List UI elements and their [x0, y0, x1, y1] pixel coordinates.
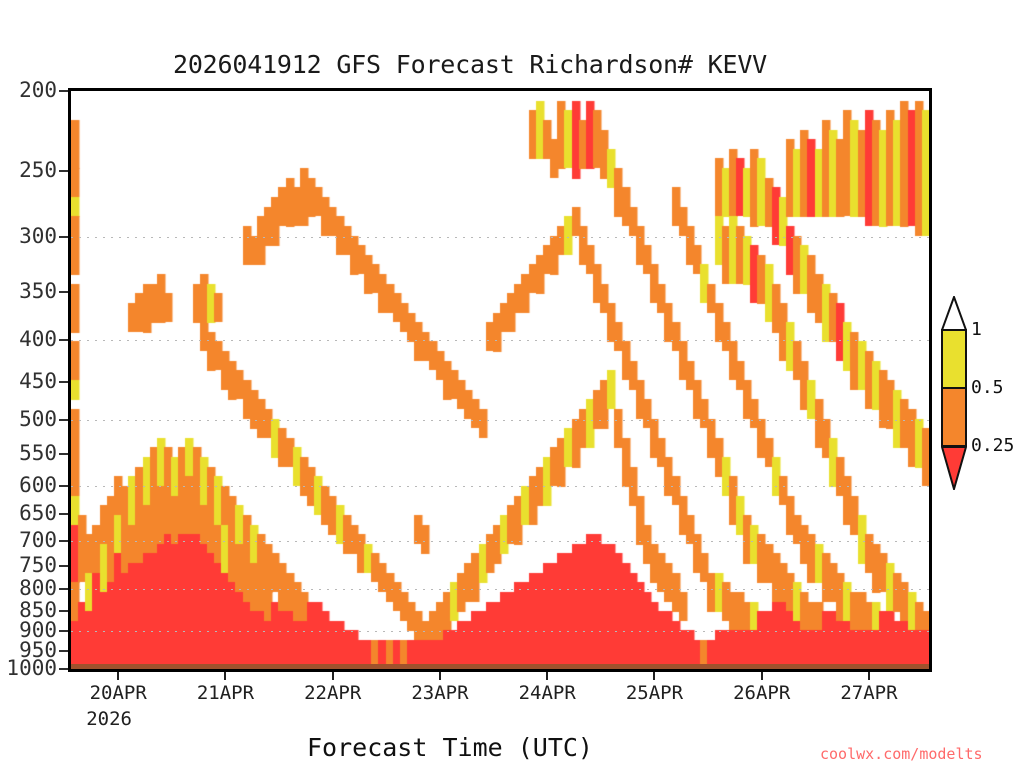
- x-axis-tick-label: 26APR: [720, 684, 804, 703]
- y-axis-tick-mark: [59, 668, 68, 670]
- y-axis-tick-mark: [59, 453, 68, 455]
- colorbar-tick-label: 0.5: [971, 379, 1004, 397]
- y-axis-tick-mark: [59, 565, 68, 567]
- page-title: 2026041912 GFS Forecast Richardson# KEVV: [0, 50, 940, 79]
- y-axis-tick-label: 450: [19, 371, 57, 392]
- x-axis-tick-mark: [117, 672, 119, 680]
- y-axis-tick-label: 650: [19, 503, 57, 524]
- colorbar-below-min-arrow: [941, 446, 967, 490]
- y-axis-tick-mark: [59, 588, 68, 590]
- y-axis-tick-label: 350: [19, 281, 57, 302]
- x-axis-tick-label: 23APR: [398, 684, 482, 703]
- plot-area: [68, 88, 932, 672]
- x-axis-tick-mark: [546, 672, 548, 680]
- colorbar-segment: [941, 330, 967, 388]
- y-axis-tick-label: 550: [19, 443, 57, 464]
- colorbar-tick-label: 1: [971, 321, 982, 339]
- y-axis-tick-mark: [59, 419, 68, 421]
- y-axis-tick-label: 500: [19, 409, 57, 430]
- chart-figure: 2026041912 GFS Forecast Richardson# KEVV…: [0, 0, 1024, 768]
- colorbar-legend: 10.50.25: [941, 296, 967, 458]
- x-axis-tick-mark: [224, 672, 226, 680]
- y-axis-tick-label: 1000: [6, 658, 57, 679]
- y-axis-tick-mark: [59, 339, 68, 341]
- x-axis-tick-label: 25APR: [612, 684, 696, 703]
- credit-watermark: coolwx.com/modelts: [820, 745, 983, 763]
- terrain-band: [71, 664, 929, 669]
- colorbar-above-max-arrow: [941, 296, 967, 330]
- y-axis-tick-mark: [59, 170, 68, 172]
- y-axis-tick-mark: [59, 630, 68, 632]
- y-axis-tick-label: 200: [19, 80, 57, 101]
- y-axis-tick-label: 700: [19, 530, 57, 551]
- colorbar-segment: [941, 388, 967, 446]
- y-axis-tick-mark: [59, 650, 68, 652]
- y-axis-tick-label: 600: [19, 475, 57, 496]
- axis-year-label: 2026: [86, 710, 132, 729]
- x-axis-tick-label: 20APR: [76, 684, 160, 703]
- heatmap-canvas: [71, 91, 929, 669]
- y-axis-tick-mark: [59, 90, 68, 92]
- y-axis-tick-mark: [59, 513, 68, 515]
- y-axis-tick-mark: [59, 381, 68, 383]
- colorbar-rule: [941, 329, 967, 331]
- x-axis-tick-label: 22APR: [291, 684, 375, 703]
- x-axis-tick-mark: [653, 672, 655, 680]
- y-axis-tick-mark: [59, 291, 68, 293]
- x-axis-tick-mark: [332, 672, 334, 680]
- y-axis-tick-label: 800: [19, 578, 57, 599]
- y-axis-tick-label: 400: [19, 329, 57, 350]
- x-axis-tick-mark: [868, 672, 870, 680]
- y-axis-tick-mark: [59, 610, 68, 612]
- x-axis-tick-mark: [439, 672, 441, 680]
- x-axis-tick-mark: [761, 672, 763, 680]
- x-axis-tick-label: 21APR: [183, 684, 267, 703]
- y-axis-tick-label: 750: [19, 555, 57, 576]
- y-axis-tick-label: 300: [19, 226, 57, 247]
- x-axis-tick-label: 27APR: [827, 684, 911, 703]
- y-axis-tick-mark: [59, 485, 68, 487]
- x-axis-title: Forecast Time (UTC): [230, 733, 670, 762]
- colorbar-tick-label: 0.25: [971, 437, 1014, 455]
- y-axis-tick-mark: [59, 236, 68, 238]
- y-axis-tick-mark: [59, 540, 68, 542]
- x-axis-tick-label: 24APR: [505, 684, 589, 703]
- y-axis-tick-label: 250: [19, 160, 57, 181]
- colorbar-rule: [941, 387, 967, 389]
